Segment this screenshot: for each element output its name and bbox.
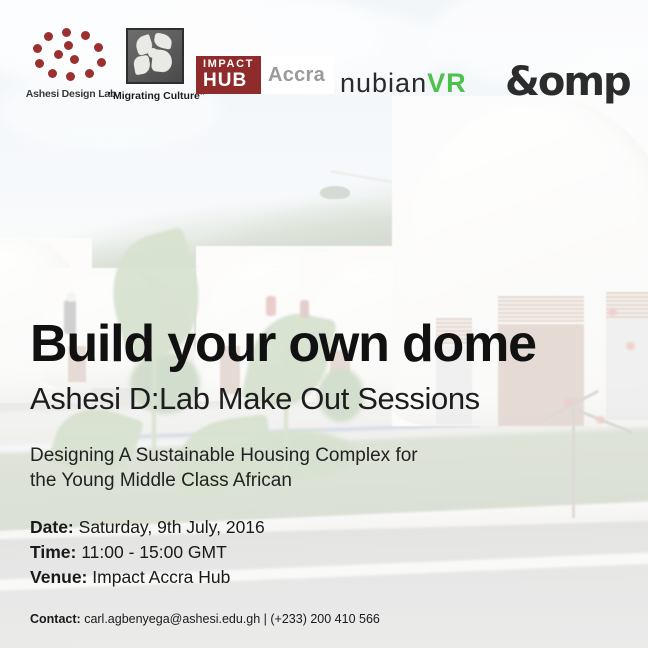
- partner-logo-bar: Ashesi Design Lab "Migrating Culture" IM…: [0, 26, 648, 98]
- poster-text-block: Build your own dome Ashesi D:Lab Make Ou…: [30, 318, 630, 590]
- event-details: Date: Saturday, 9th July, 2016 Time: 11:…: [30, 515, 630, 590]
- detail-date-label: Date:: [30, 517, 74, 537]
- detail-time: Time: 11:00 - 15:00 GMT: [30, 540, 630, 565]
- poster-description: Designing A Sustainable Housing Complex …: [30, 443, 630, 494]
- detail-venue-label: Venue:: [30, 567, 87, 587]
- detail-time-label: Time:: [30, 542, 76, 562]
- logo-omp[interactable]: &omp: [505, 62, 630, 102]
- impact-hub-mark: IMPACT HUB: [196, 56, 261, 94]
- logo-ashesi-design-lab[interactable]: Ashesi Design Lab: [20, 28, 122, 100]
- event-poster: Ashesi Design Lab "Migrating Culture" IM…: [0, 0, 648, 648]
- contact-value[interactable]: carl.agbenyega@ashesi.edu.gh | (+233) 20…: [84, 612, 380, 626]
- impact-hub-city: Accra: [261, 56, 334, 94]
- migrating-culture-mark-icon: [126, 28, 184, 84]
- nubian-vr-part1: nubian: [340, 68, 427, 98]
- description-line-1: Designing A Sustainable Housing Complex …: [30, 443, 630, 468]
- detail-venue-value: Impact Accra Hub: [92, 567, 230, 587]
- nubian-vr-part2: VR: [427, 68, 467, 98]
- logo-ashesi-label: Ashesi Design Lab: [20, 88, 122, 100]
- logo-migrating-culture[interactable]: "Migrating Culture": [112, 28, 200, 102]
- contact-line: Contact: carl.agbenyega@ashesi.edu.gh | …: [30, 612, 380, 626]
- description-line-2: the Young Middle Class African: [30, 468, 630, 493]
- detail-time-value: 11:00 - 15:00 GMT: [81, 542, 227, 562]
- detail-date: Date: Saturday, 9th July, 2016: [30, 515, 630, 540]
- poster-title: Build your own dome: [30, 318, 630, 371]
- poster-subtitle: Ashesi D:Lab Make Out Sessions: [30, 381, 630, 417]
- logo-nubian-vr[interactable]: nubianVR: [340, 70, 467, 97]
- detail-venue: Venue: Impact Accra Hub: [30, 565, 630, 590]
- detail-date-value: Saturday, 9th July, 2016: [79, 517, 265, 537]
- logo-migrating-culture-label: "Migrating Culture": [108, 90, 204, 102]
- impact-hub-line1: IMPACT: [203, 59, 254, 70]
- ashesi-ring-icon: [32, 28, 108, 80]
- logo-impact-hub-accra[interactable]: IMPACT HUB Accra: [196, 56, 334, 94]
- impact-hub-line2: HUB: [203, 71, 254, 90]
- contact-label: Contact:: [30, 612, 81, 626]
